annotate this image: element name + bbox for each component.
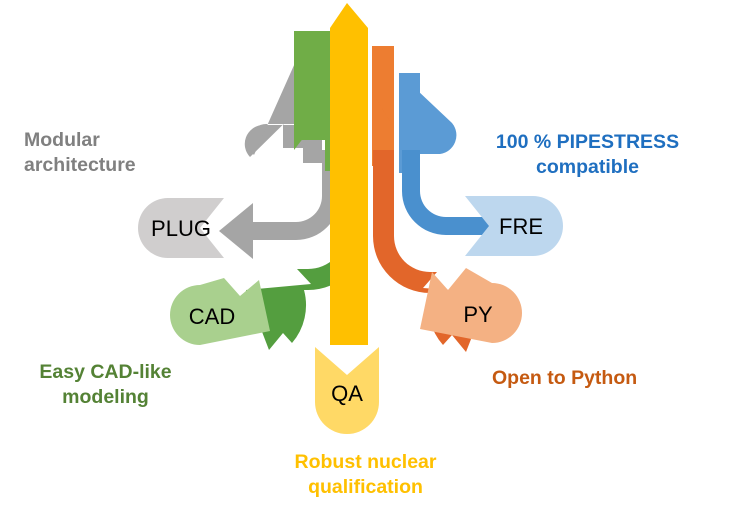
diagram-canvas: PLUG CAD QA PY FRE Modular architecture … (0, 0, 733, 520)
caption-modular-architecture: Modular architecture (24, 128, 224, 178)
badge-plug[interactable]: PLUG (138, 198, 224, 258)
badge-plug-label: PLUG (151, 216, 211, 241)
arrow-branch-plug (219, 150, 340, 259)
badge-cad-label: CAD (189, 304, 235, 329)
badge-qa[interactable]: QA (315, 347, 379, 434)
badge-py-label: PY (463, 302, 493, 327)
caption-robust-nuclear-qualification: Robust nuclear qualification (248, 450, 483, 500)
caption-easy-cad-like-modeling: Easy CAD-like modeling (8, 360, 203, 410)
badge-py[interactable]: PY (420, 268, 522, 343)
architecture-arrow-diagram: PLUG CAD QA PY FRE (0, 0, 733, 520)
caption-pipestress-compatible: 100 % PIPESTRESS compatible (455, 130, 720, 180)
badge-qa-label: QA (331, 381, 363, 406)
badge-cad[interactable]: CAD (170, 278, 270, 345)
badge-fre-label: FRE (499, 214, 543, 239)
arrow-band-qa (330, 3, 368, 345)
caption-open-to-python: Open to Python (492, 366, 707, 391)
